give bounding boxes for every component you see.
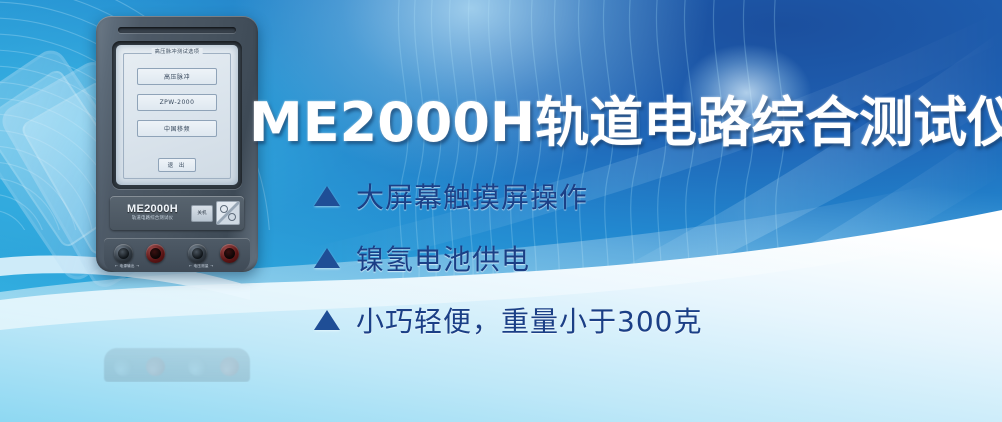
banner-title: ME2000H轨道电路综合测试仪 xyxy=(249,78,1002,157)
screen-group-title: 高压脉冲测试选项 xyxy=(152,48,203,56)
jack-voltage-black[interactable] xyxy=(188,244,207,263)
feature-text: 镍氢电池供电 xyxy=(356,238,530,278)
feature-list: 大屏幕触摸屏操作 镍氢电池供电 小巧轻便，重量小于300克 xyxy=(314,178,874,364)
me2000h-device: 高压脉冲测试选项 高压脉冲 ZPW-2000 中国移频 退 出 ME2000H … xyxy=(96,16,258,272)
triangle-bullet-icon xyxy=(314,310,340,330)
feature-item: 小巧轻便，重量小于300克 xyxy=(314,302,874,338)
device-jack-panel: ← 电源输出 → ← 电压测量 → xyxy=(104,238,250,272)
feature-text: 大屏幕触摸屏操作 xyxy=(356,176,588,216)
device-screen-bezel: 高压脉冲测试选项 高压脉冲 ZPW-2000 中国移频 退 出 xyxy=(112,41,242,189)
device-screen: 高压脉冲测试选项 高压脉冲 ZPW-2000 中国移频 退 出 xyxy=(116,45,238,185)
device-brand-name: ME2000H xyxy=(114,204,191,215)
screen-option-group: 高压脉冲测试选项 高压脉冲 ZPW-2000 中国移频 退 出 xyxy=(123,53,231,179)
screen-button-high-voltage-pulse[interactable]: 高压脉冲 xyxy=(137,68,217,85)
jack-power-red[interactable] xyxy=(146,244,165,263)
device-brand-subtitle: 轨道电路综合测试仪 xyxy=(114,217,191,221)
screen-button-zpw-2000[interactable]: ZPW-2000 xyxy=(137,94,217,111)
triangle-bullet-icon xyxy=(314,186,340,206)
triangle-bullet-icon xyxy=(314,248,340,268)
device-power-button[interactable]: 关机 xyxy=(191,205,213,222)
device-logo-icon xyxy=(216,201,240,225)
jack-label-voltage: ← 电压测量 → xyxy=(189,264,213,269)
jack-power-black[interactable] xyxy=(114,244,133,263)
device-illustration: 高压脉冲测试选项 高压脉冲 ZPW-2000 中国移频 退 出 ME2000H … xyxy=(96,16,258,291)
jack-voltage-red[interactable] xyxy=(220,244,239,263)
feature-item: 大屏幕触摸屏操作 xyxy=(314,178,874,214)
feature-item: 镍氢电池供电 xyxy=(314,240,874,276)
device-speaker-slot xyxy=(118,27,236,33)
device-label-bar: ME2000H 轨道电路综合测试仪 关机 xyxy=(110,196,244,230)
feature-text: 小巧轻便，重量小于300克 xyxy=(356,300,702,340)
product-banner: 高压脉冲测试选项 高压脉冲 ZPW-2000 中国移频 退 出 ME2000H … xyxy=(0,0,1002,422)
screen-button-exit[interactable]: 退 出 xyxy=(158,158,196,172)
device-brand: ME2000H 轨道电路综合测试仪 xyxy=(114,204,191,221)
screen-button-china-frequency-shift[interactable]: 中国移频 xyxy=(137,120,217,137)
jack-label-power: ← 电源输出 → xyxy=(115,264,139,269)
